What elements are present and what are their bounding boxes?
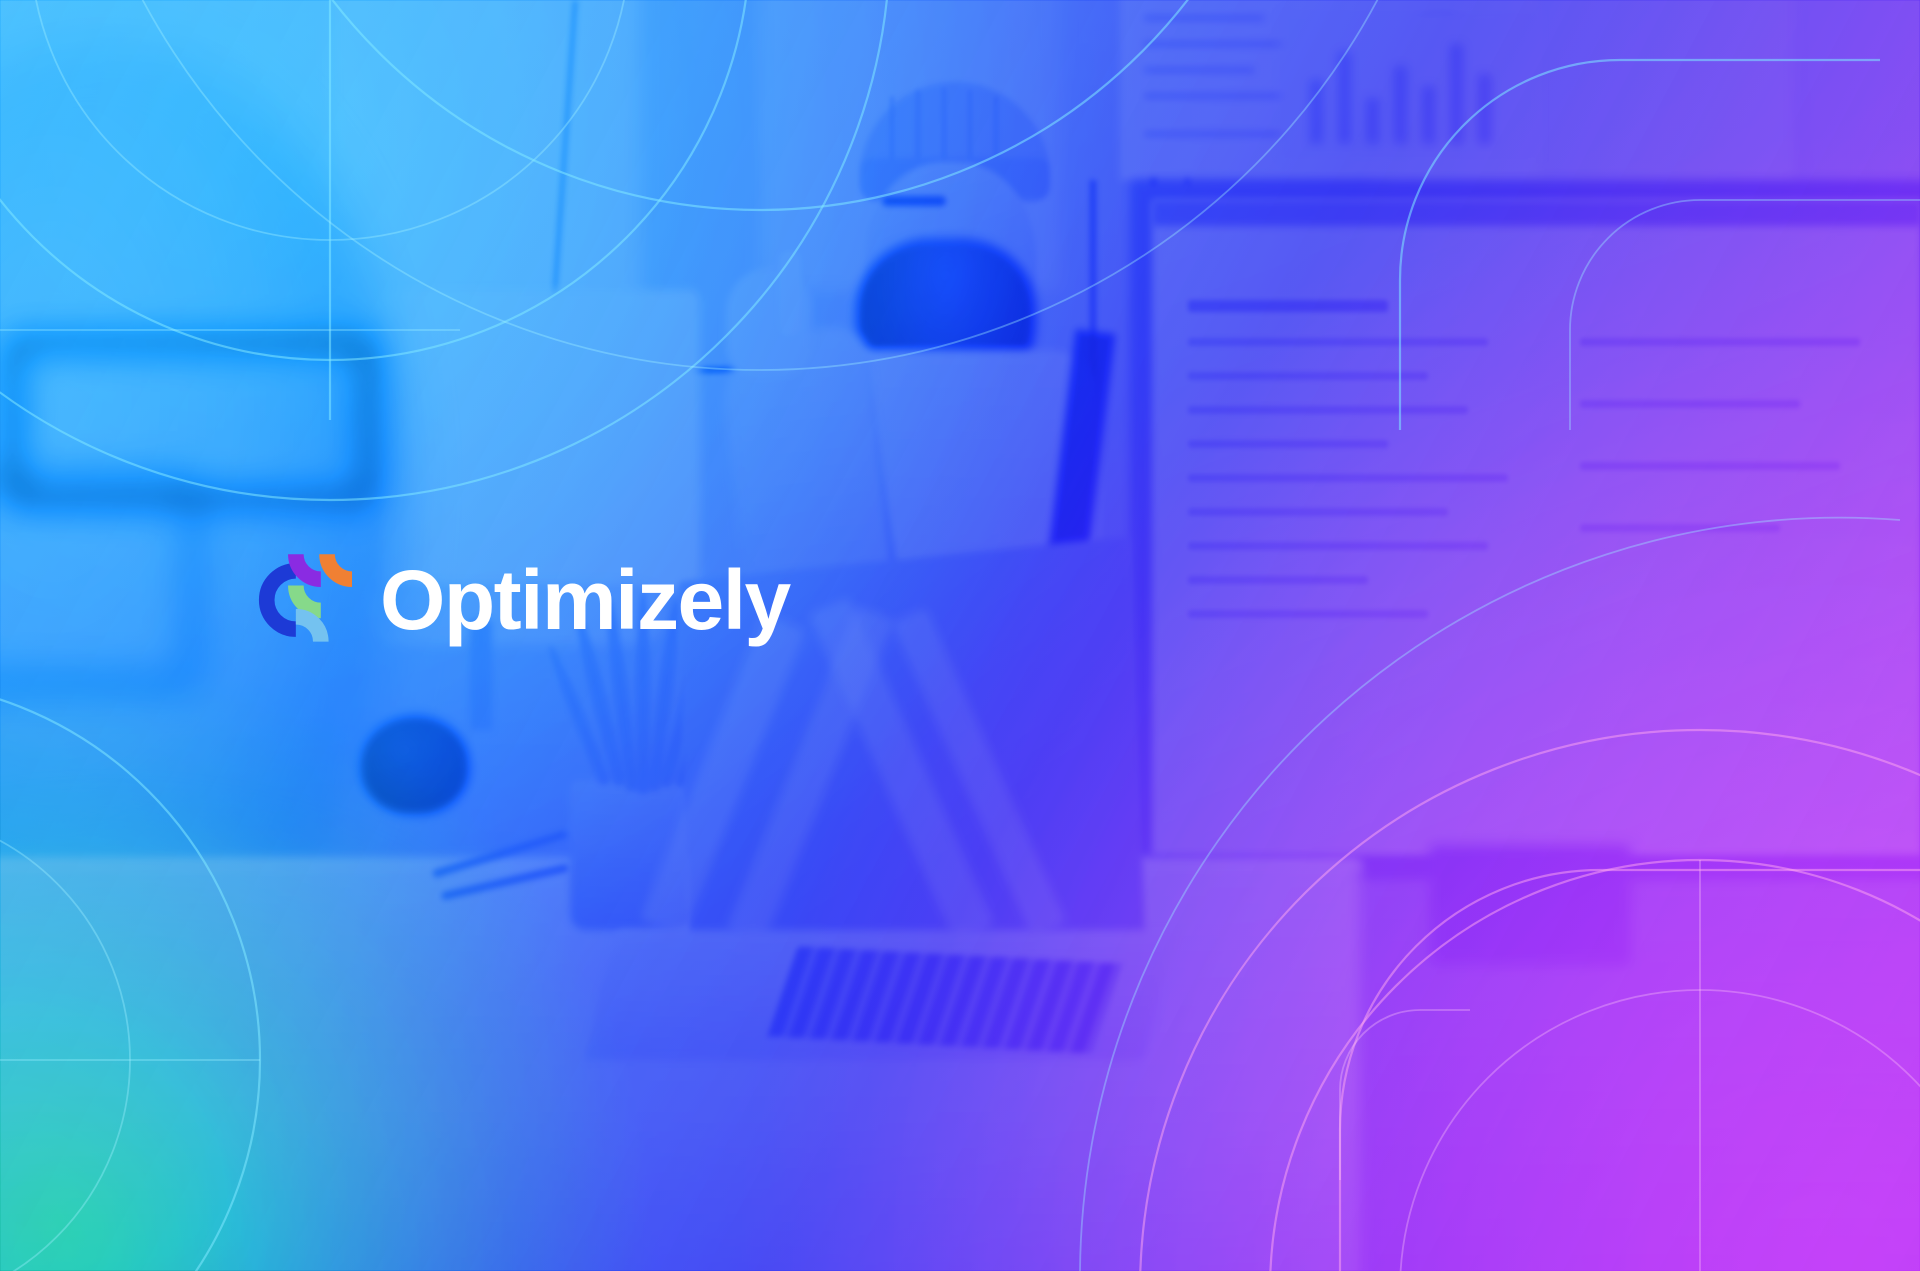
optimizely-logo-lockup: Optimizely: [248, 548, 790, 652]
optimizely-wordmark: Optimizely: [380, 558, 790, 642]
optimizely-logo-mark: [248, 548, 352, 652]
hero-banner: Optimizely: [0, 0, 1920, 1271]
